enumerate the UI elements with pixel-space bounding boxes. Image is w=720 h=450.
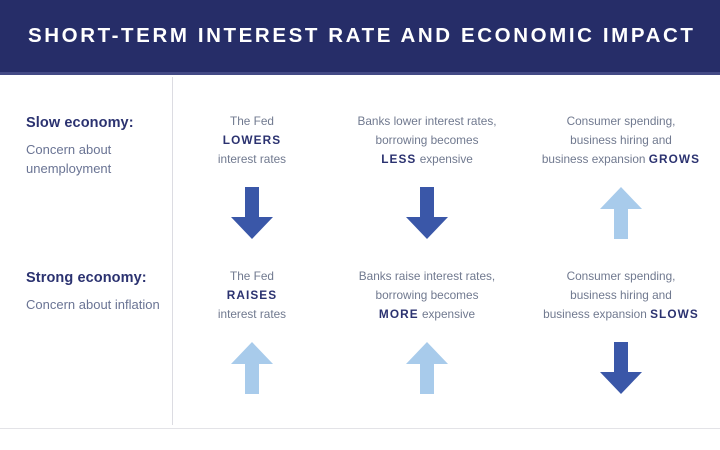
step-text: Banks raise interest rates, borrowing be… (355, 267, 499, 324)
step-text: Banks lower interest rates, borrowing be… (354, 112, 501, 169)
step-line-3: interest rates (218, 152, 286, 166)
step-line-2: borrowing becomes (376, 288, 479, 302)
page-title: SHORT-TERM INTEREST RATE AND ECONOMIC IM… (28, 24, 696, 48)
row-label-strong-economy: Strong economy: Concern about inflation (0, 262, 172, 315)
step-emphasis: LOWERS (223, 133, 281, 147)
step-fed-action: The Fed LOWERS interest rates (172, 107, 332, 239)
step-text: The Fed LOWERS interest rates (214, 112, 290, 169)
header-banner: SHORT-TERM INTEREST RATE AND ECONOMIC IM… (0, 0, 720, 72)
step-economic-outcome: Consumer spending, business hiring and b… (522, 107, 720, 239)
arrow-up-icon (231, 342, 273, 394)
step-line-3: interest rates (218, 307, 286, 321)
step-line-2: business hiring and (570, 288, 672, 302)
row-slow-economy: Slow economy: Concern about unemployment… (0, 107, 720, 277)
arrow-down-icon (600, 342, 642, 394)
step-line-2: borrowing becomes (376, 133, 479, 147)
step-text: Consumer spending, business hiring and b… (538, 112, 704, 169)
step-line-3: expensive (420, 152, 473, 166)
step-line-3: business expansion (543, 307, 647, 321)
step-text: The Fed RAISES interest rates (214, 267, 290, 324)
step-line-3: expensive (422, 307, 475, 321)
label-title: Slow economy: (26, 115, 172, 132)
step-list: The Fed LOWERS interest rates Banks lowe… (172, 107, 720, 239)
step-line-1: Consumer spending, (567, 269, 676, 283)
infographic-poster: SHORT-TERM INTEREST RATE AND ECONOMIC IM… (0, 0, 720, 450)
step-line-1: Consumer spending, (567, 114, 676, 128)
arrow-up-icon (406, 342, 448, 394)
row-label-slow-economy: Slow economy: Concern about unemployment (0, 107, 172, 178)
step-emphasis: LESS (381, 152, 416, 166)
arrow-up-icon (600, 187, 642, 239)
step-line-1: The Fed (230, 269, 274, 283)
step-list: The Fed RAISES interest rates Banks rais… (172, 262, 720, 394)
step-emphasis: RAISES (227, 288, 278, 302)
step-line-3: business expansion (542, 152, 646, 166)
step-line-2: business hiring and (570, 133, 672, 147)
arrow-down-icon (231, 187, 273, 239)
label-title: Strong economy: (26, 270, 172, 287)
diagram-body: Slow economy: Concern about unemployment… (0, 75, 720, 450)
step-economic-outcome: Consumer spending, business hiring and b… (522, 262, 720, 394)
step-bank-rates: Banks lower interest rates, borrowing be… (332, 107, 522, 239)
step-line-1: Banks lower interest rates, (358, 114, 497, 128)
step-emphasis: MORE (379, 307, 419, 321)
arrow-down-icon (406, 187, 448, 239)
step-line-1: The Fed (230, 114, 274, 128)
row-strong-economy: Strong economy: Concern about inflation … (0, 262, 720, 432)
label-subtitle: Concern about inflation (26, 296, 172, 314)
step-emphasis: SLOWS (650, 307, 699, 321)
step-line-1: Banks raise interest rates, (359, 269, 495, 283)
step-text: Consumer spending, business hiring and b… (539, 267, 703, 324)
label-subtitle: Concern about unemployment (26, 141, 172, 178)
step-bank-rates: Banks raise interest rates, borrowing be… (332, 262, 522, 394)
step-fed-action: The Fed RAISES interest rates (172, 262, 332, 394)
step-emphasis: GROWS (649, 152, 700, 166)
